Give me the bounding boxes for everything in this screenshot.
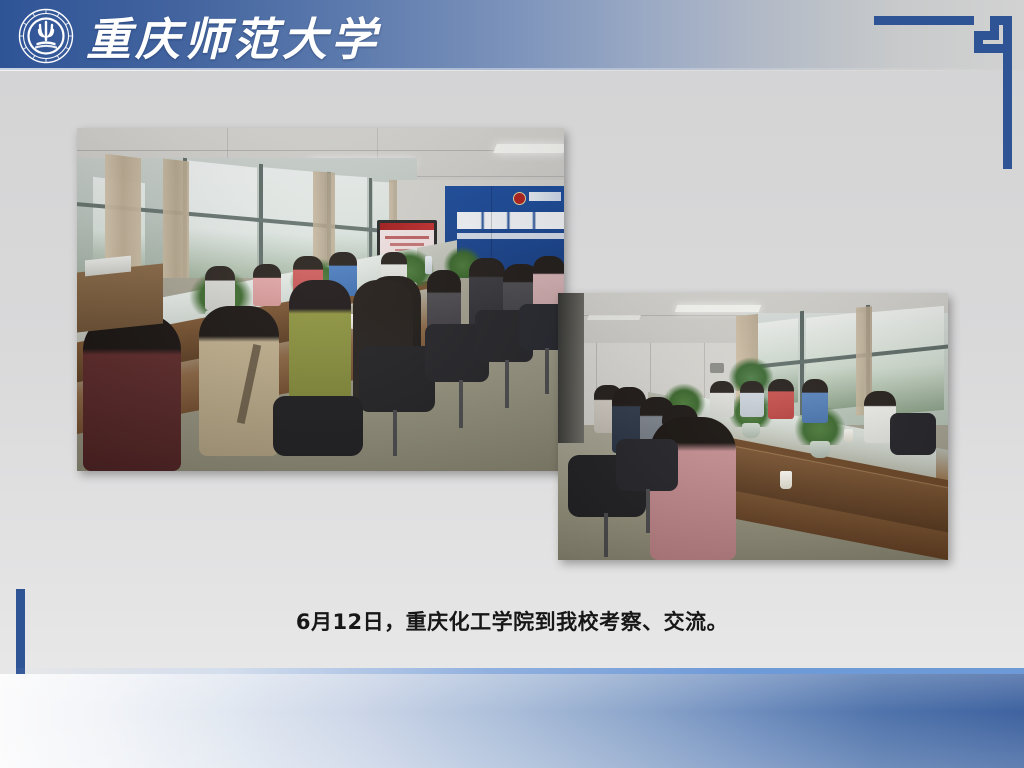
ornament-bar: [874, 16, 974, 25]
ornament-bar: [974, 31, 999, 40]
presentation-slide: 重庆师范大学: [0, 0, 1024, 768]
header-underline: [0, 68, 1024, 71]
photo-scene: [77, 128, 564, 471]
university-name-title: 重庆师范大学: [86, 6, 380, 64]
university-emblem-icon: [18, 8, 74, 64]
bottom-band-shade: [0, 674, 1024, 768]
meeting-photo-wide[interactable]: [77, 128, 564, 471]
slide-caption: 6月12日，重庆化工学院到我校考察、交流。: [0, 606, 1024, 636]
ornament-bar: [1003, 16, 1012, 169]
meeting-photo-angle[interactable]: [558, 293, 948, 560]
photo-scene: [558, 293, 948, 560]
photo-vignette: [558, 293, 948, 560]
corner-ornament-top-right: [914, 4, 1024, 174]
photo-vignette: [77, 128, 564, 471]
